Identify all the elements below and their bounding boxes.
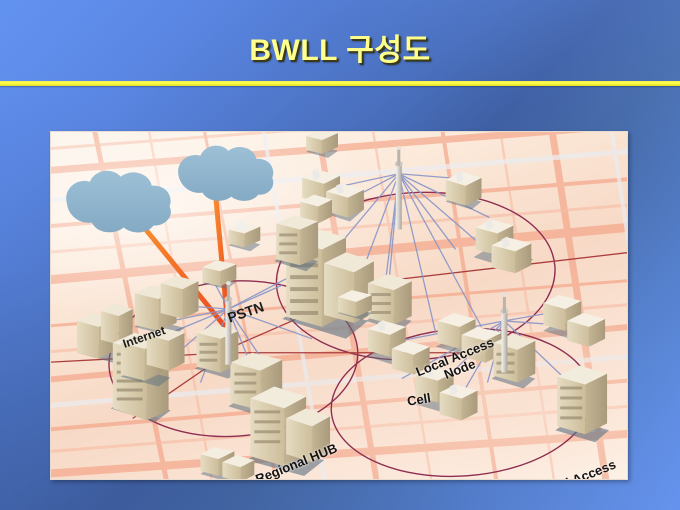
building-small-hub-ne [202, 260, 236, 289]
building-lanbot-node [491, 334, 535, 389]
building-cluster-lantop-e [446, 171, 482, 210]
buildings [77, 132, 609, 479]
building-small-top-center [228, 220, 260, 251]
slide: BWLL 구성도 [0, 0, 680, 510]
building-lanbot-east-tower [555, 366, 609, 443]
building-small-bottom-center [200, 447, 254, 479]
network-diagram-image: Internet PSTN Local Access Node Cell Reg… [50, 131, 628, 480]
building-cluster-lantop-se [474, 219, 534, 274]
title-divider-rule [0, 81, 680, 86]
topology-layer [51, 132, 627, 479]
page-title: BWLL 구성도 [249, 34, 430, 67]
building-cluster-lanbot-ne [543, 295, 605, 347]
cloud-pstn [178, 146, 273, 201]
building-cluster-lantop-nw [300, 169, 364, 224]
building-small-top-far [306, 132, 338, 158]
label-cell-top: Cell [406, 391, 432, 408]
cloud-internet [66, 171, 171, 233]
title-area: BWLL 구성도 [0, 34, 680, 67]
building-lantop-west [274, 216, 318, 272]
building-cluster-hub-nw [135, 276, 199, 337]
tower-local-access-node-bottom [500, 293, 508, 373]
tower-local-access-node-top [395, 146, 403, 230]
